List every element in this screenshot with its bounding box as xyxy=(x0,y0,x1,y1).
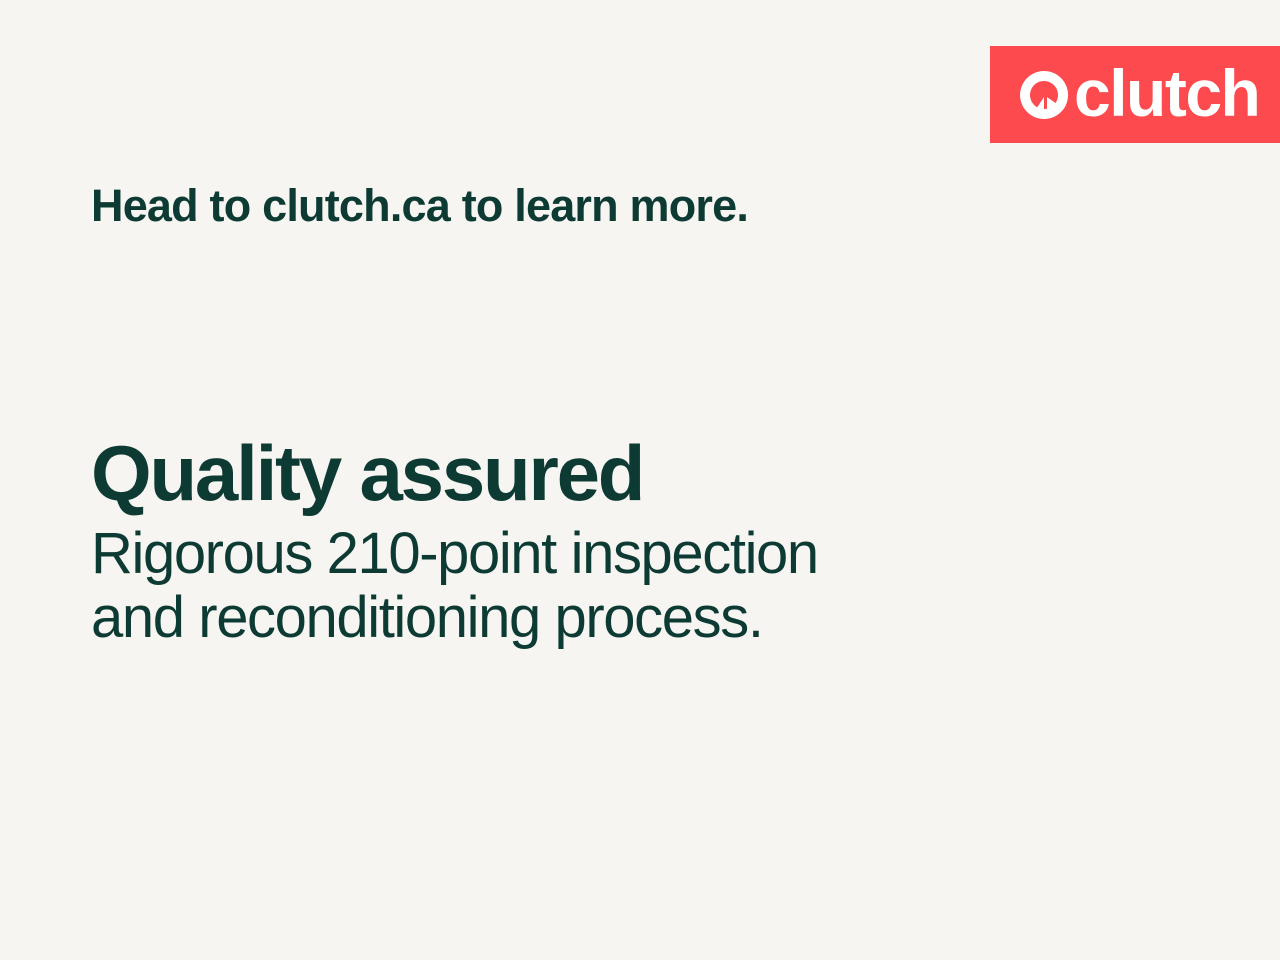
subline-line-2: and reconditioning process. xyxy=(91,586,991,650)
message-block: Quality assured Rigorous 210-point inspe… xyxy=(91,430,991,650)
logo-lockup: clutch xyxy=(1018,62,1259,128)
promo-slide: clutch Head to clutch.ca to learn more. … xyxy=(0,0,1280,960)
brand-wordmark: clutch xyxy=(1074,60,1259,126)
clutch-c-wedge-icon xyxy=(1018,69,1070,121)
subline-line-1: Rigorous 210-point inspection xyxy=(91,522,991,586)
cta-text: Head to clutch.ca to learn more. xyxy=(91,179,748,233)
subline: Rigorous 210-point inspection and recond… xyxy=(91,522,991,650)
headline: Quality assured xyxy=(91,430,991,516)
brand-logo-panel[interactable]: clutch xyxy=(990,46,1280,143)
